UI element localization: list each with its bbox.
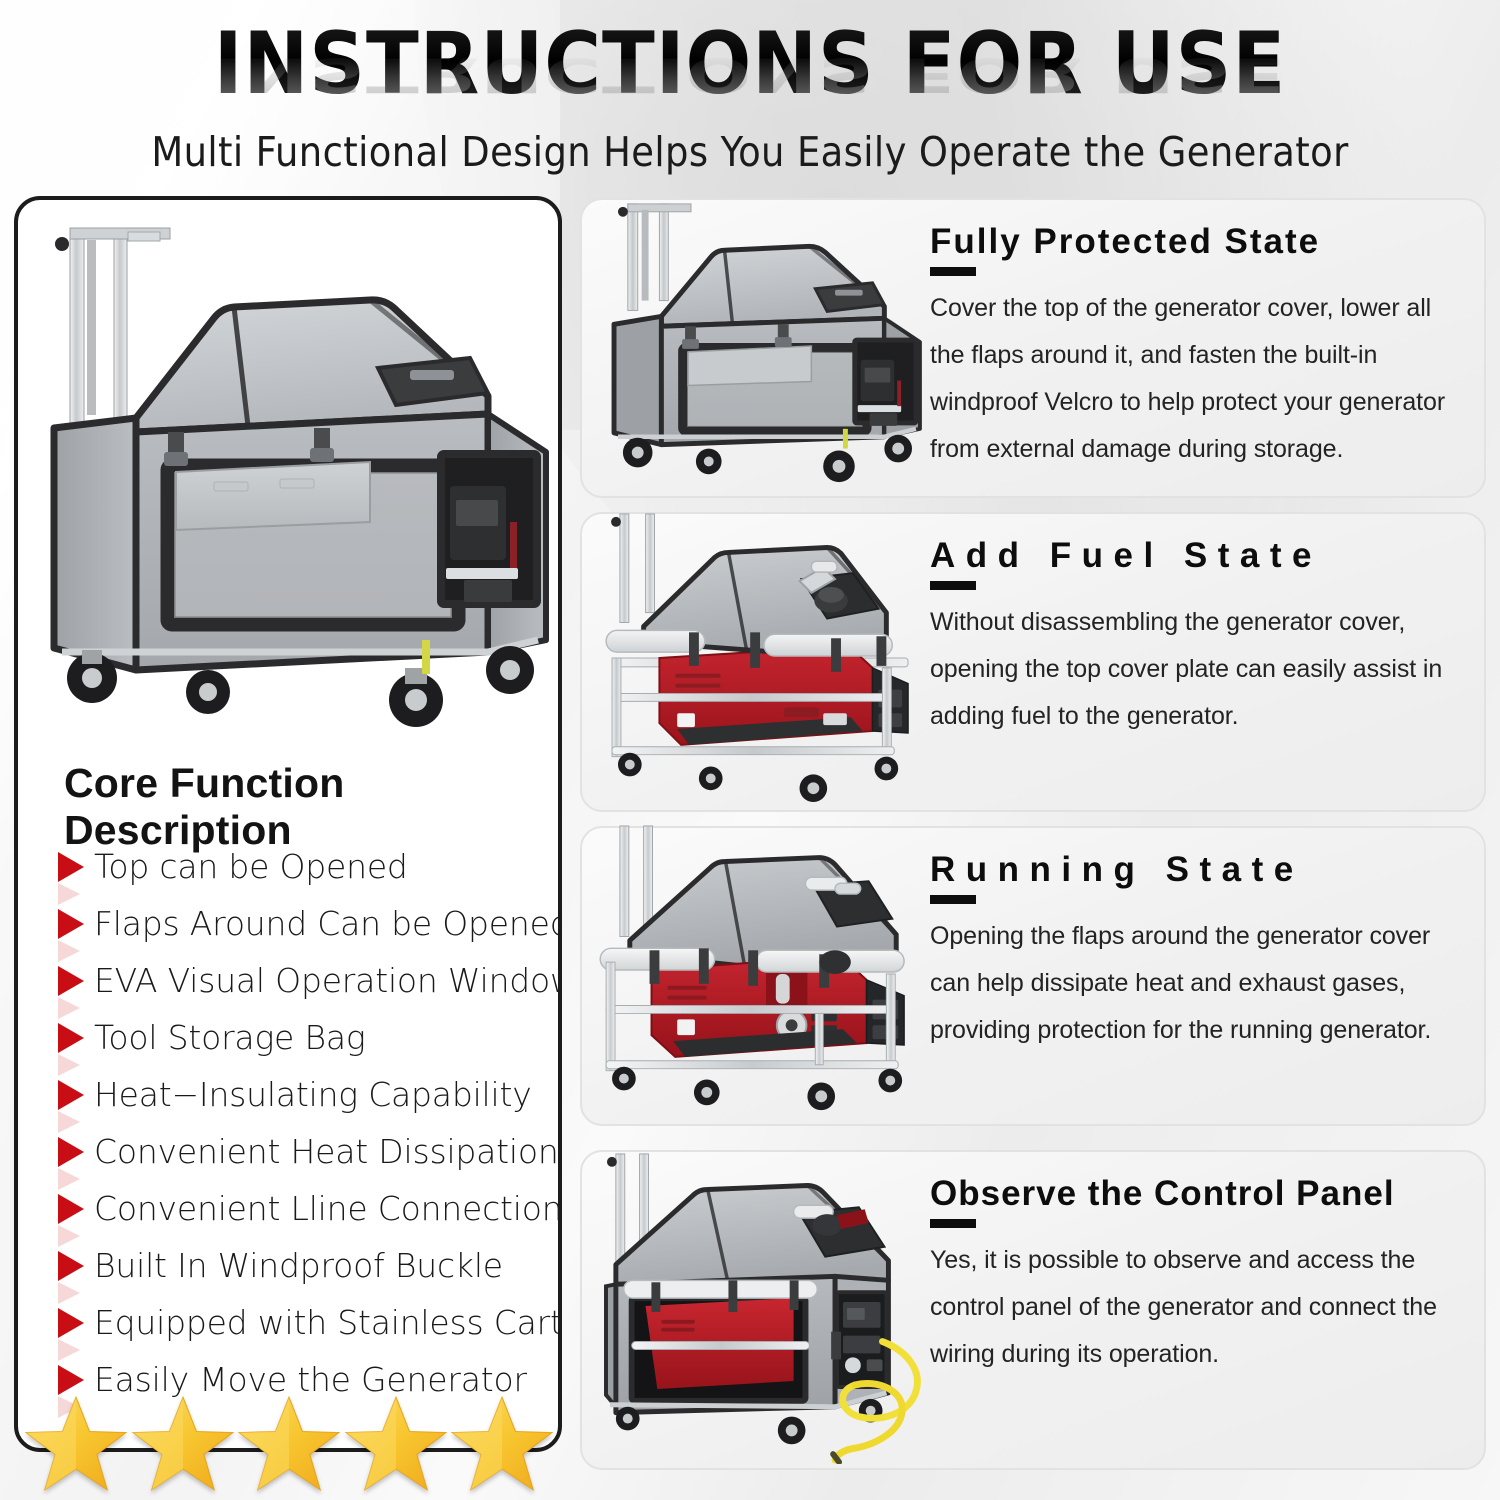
casters bbox=[612, 1067, 902, 1110]
card-body: Cover the top of the generator cover, lo… bbox=[930, 285, 1460, 473]
page-title: INSTRUCTIONS FOR USE bbox=[0, 0, 1500, 112]
feature-item: Equipped with Stainless Cart bbox=[50, 1294, 560, 1351]
triangle-bullet-icon bbox=[58, 1251, 84, 1281]
triangle-bullet-icon bbox=[58, 966, 84, 996]
core-function-panel: Core Function Description Top can be Ope… bbox=[14, 196, 562, 1452]
star-rating bbox=[24, 1388, 554, 1500]
feature-label: Top can be Opened bbox=[94, 847, 408, 886]
triangle-bullet-icon bbox=[58, 1194, 84, 1224]
feature-item: Top can be Opened bbox=[50, 838, 560, 895]
card-text-add-fuel: Add Fuel State Without disassembling the… bbox=[930, 534, 1478, 740]
card-heading: Running State bbox=[930, 848, 1460, 892]
feature-item: Tool Storage Bag bbox=[50, 1009, 560, 1066]
cart-handle bbox=[611, 514, 654, 623]
card-image-control-panel bbox=[588, 1148, 940, 1464]
triangle-bullet-icon bbox=[58, 909, 84, 939]
card-heading: Add Fuel State bbox=[930, 534, 1460, 578]
hero-product-image bbox=[18, 200, 562, 745]
card-image-running bbox=[588, 824, 940, 1120]
triangle-bullet-icon bbox=[58, 1137, 84, 1167]
feature-label: Heat−Insulating Capability bbox=[94, 1075, 532, 1114]
card-body: Opening the flaps around the generator c… bbox=[930, 913, 1460, 1054]
triangle-bullet-icon bbox=[58, 1080, 84, 1110]
state-card-control-panel: Observe the Control Panel Yes, it is pos… bbox=[580, 1150, 1486, 1470]
page-header: INSTRUCTIONS FOR USE INSTRUCTIONS FOR US… bbox=[0, 0, 1500, 112]
feature-item: Flaps Around Can be Opened bbox=[50, 895, 560, 952]
triangle-bullet-icon bbox=[58, 1308, 84, 1338]
feature-label: Built In Windproof Buckle bbox=[94, 1246, 503, 1285]
card-text-running: Running State Opening the flaps around t… bbox=[930, 848, 1478, 1054]
feature-item: Convenient Lline Connection bbox=[50, 1180, 560, 1237]
star-icon bbox=[24, 1394, 128, 1494]
state-card-fully-protected: Fully Protected State Cover the top of t… bbox=[580, 198, 1486, 498]
cart-handle bbox=[620, 826, 653, 937]
generator-cover bbox=[54, 300, 546, 670]
star-icon bbox=[344, 1394, 448, 1494]
triangle-bullet-icon bbox=[58, 1023, 84, 1053]
feature-item: Heat−Insulating Capability bbox=[50, 1066, 560, 1123]
card-body: Without disassembling the generator cove… bbox=[930, 599, 1460, 740]
heading-underline bbox=[930, 895, 976, 904]
infographic-page: INSTRUCTIONS FOR USE INSTRUCTIONS FOR US… bbox=[0, 0, 1500, 1500]
card-text-fully-protected: Fully Protected State Cover the top of t… bbox=[930, 220, 1478, 473]
card-image-add-fuel bbox=[588, 510, 940, 806]
card-heading: Observe the Control Panel bbox=[930, 1172, 1460, 1216]
heading-underline bbox=[930, 1219, 976, 1228]
card-body: Yes, it is possible to observe and acces… bbox=[930, 1237, 1460, 1378]
feature-item: Convenient Heat Dissipation bbox=[50, 1123, 560, 1180]
feature-label: EVA Visual Operation Window bbox=[94, 961, 562, 1000]
feature-label: Convenient Lline Connection bbox=[94, 1189, 562, 1228]
feature-label: Tool Storage Bag bbox=[94, 1018, 365, 1057]
star-icon bbox=[450, 1394, 554, 1494]
feature-label: Equipped with Stainless Cart bbox=[94, 1303, 562, 1342]
star-icon bbox=[237, 1394, 341, 1494]
card-text-control-panel: Observe the Control Panel Yes, it is pos… bbox=[930, 1172, 1478, 1378]
cart-base-casters bbox=[618, 429, 916, 482]
feature-list: Top can be Opened Flaps Around Can be Op… bbox=[50, 838, 560, 1408]
card-image-fully-protected bbox=[588, 196, 940, 492]
state-card-running: Running State Opening the flaps around t… bbox=[580, 826, 1486, 1126]
cart-base-casters bbox=[62, 640, 538, 727]
triangle-bullet-icon bbox=[58, 852, 84, 882]
heading-underline bbox=[930, 581, 976, 590]
feature-item: Built In Windproof Buckle bbox=[50, 1237, 560, 1294]
feature-label: Flaps Around Can be Opened bbox=[94, 904, 562, 943]
star-icon bbox=[131, 1394, 235, 1494]
page-subtitle: Multi Functional Design Helps You Easily… bbox=[0, 126, 1500, 178]
feature-label: Convenient Heat Dissipation bbox=[94, 1132, 559, 1171]
state-card-add-fuel: Add Fuel State Without disassembling the… bbox=[580, 512, 1486, 812]
feature-item: EVA Visual Operation Window bbox=[50, 952, 560, 1009]
casters bbox=[618, 753, 898, 802]
heading-underline bbox=[930, 267, 976, 276]
card-heading: Fully Protected State bbox=[930, 220, 1460, 264]
